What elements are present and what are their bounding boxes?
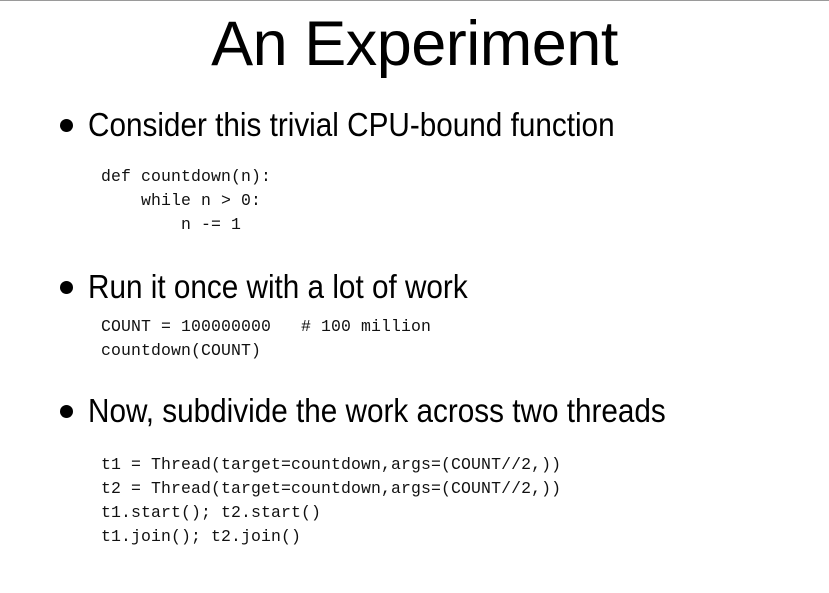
bullet-block-2: Run it once with a lot of work COUNT = 1… (0, 267, 829, 363)
code-block-2: COUNT = 100000000 # 100 million countdow… (0, 315, 829, 363)
bullet-block-1: Consider this trivial CPU-bound function… (0, 105, 829, 237)
bullet-marker-icon (60, 119, 73, 132)
bullet-item-1: Consider this trivial CPU-bound function (0, 105, 829, 145)
spacer (0, 145, 829, 165)
bullet-block-3: Now, subdivide the work across two threa… (0, 391, 829, 549)
spacer (0, 363, 829, 391)
bullet-item-2: Run it once with a lot of work (0, 267, 829, 307)
bullet-text-2: Run it once with a lot of work (88, 267, 755, 307)
spacer (0, 237, 829, 267)
spacer (0, 431, 829, 453)
bullet-text-1: Consider this trivial CPU-bound function (88, 105, 755, 145)
bullet-text-3: Now, subdivide the work across two threa… (88, 391, 755, 431)
page-title: An Experiment (0, 4, 829, 84)
slide-body: Consider this trivial CPU-bound function… (0, 105, 829, 549)
slide: An Experiment Consider this trivial CPU-… (0, 0, 829, 593)
bullet-item-3: Now, subdivide the work across two threa… (0, 391, 829, 431)
bullet-marker-icon (60, 281, 73, 294)
spacer (0, 307, 829, 315)
code-block-1: def countdown(n): while n > 0: n -= 1 (0, 165, 829, 237)
bullet-marker-icon (60, 405, 73, 418)
code-block-3: t1 = Thread(target=countdown,args=(COUNT… (0, 453, 829, 549)
